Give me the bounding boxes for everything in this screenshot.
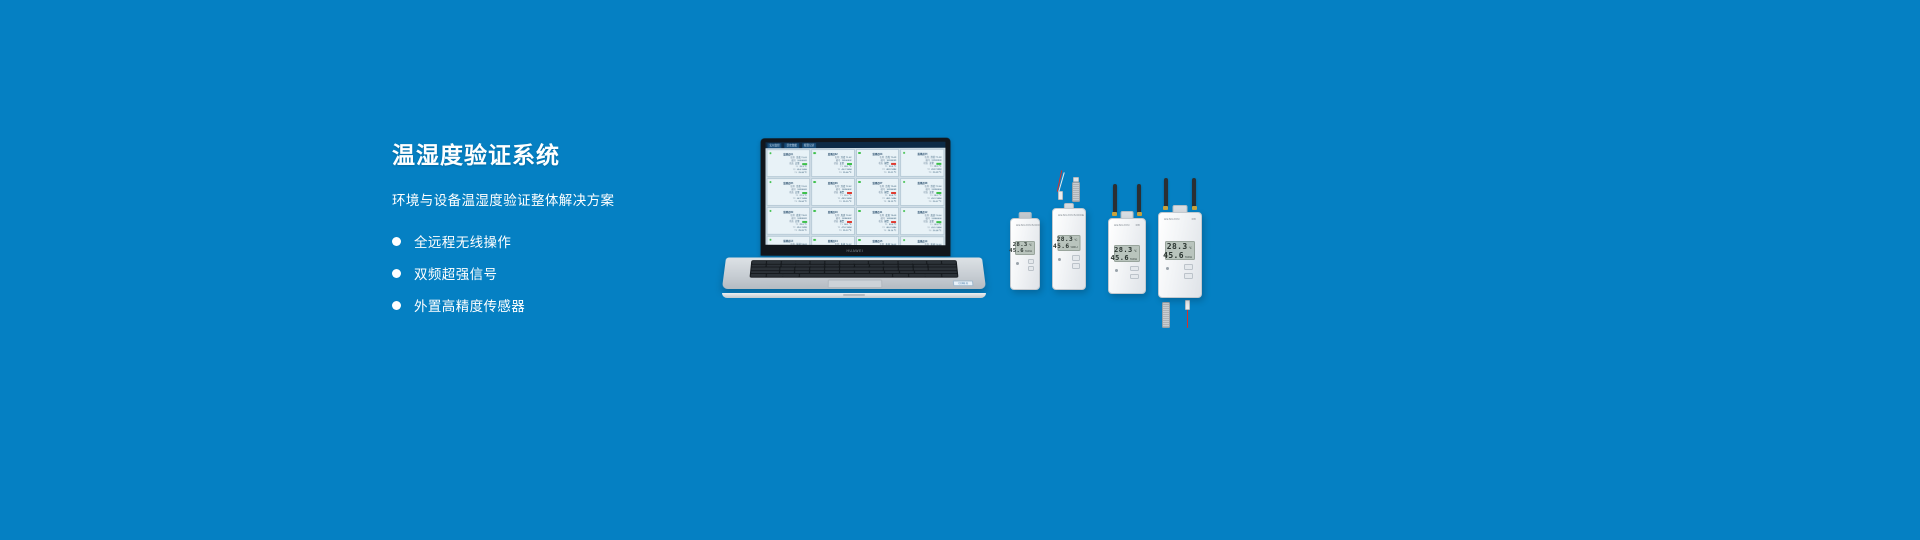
key-row [751, 271, 957, 274]
status-led-icon [858, 180, 860, 183]
list-item: 双频超强信号 [392, 263, 722, 283]
bullet-dot-icon [392, 301, 401, 310]
sensor-device-2: HENGXINS300E28.3℃45.6%RH [1052, 208, 1086, 290]
humidity-readout: 45.6%RH [1018, 248, 1032, 254]
probe-cap [1073, 177, 1079, 182]
status-led-icon [858, 239, 860, 242]
status-led-icon [813, 181, 815, 183]
device-ok-button[interactable] [1184, 273, 1194, 279]
device-brand-row: HENGXINS300E [1058, 213, 1080, 217]
monitor-card[interactable]: 监测点07名称冷库 T2-03编号10200003状态报警T130.8 ℃T24… [855, 178, 899, 206]
card-field-t3: T325.13 ℃ [858, 201, 896, 204]
card-title: 监测点07 [858, 181, 896, 185]
device-ok-button[interactable] [1028, 266, 1035, 271]
card-field-t3: T325.08 ℃ [903, 230, 941, 233]
card-title: 监测点16 [903, 239, 941, 243]
menu-item-alarms[interactable]: 报警记录 [802, 143, 816, 148]
antenna-connector [1112, 212, 1117, 216]
monitor-card[interactable]: 监测点03名称冷库 T1-03编号10100003状态报警T130.4 ℃T24… [855, 149, 899, 177]
humidity-value: 45.6 [1053, 243, 1070, 250]
probe-wire-red [1187, 310, 1188, 328]
status-badge [891, 221, 896, 223]
device-body: HENGXINR828.3℃45.6%RH [1158, 212, 1202, 298]
monitor-card[interactable]: 监测点10名称库房 T3-02编号10300002状态报警T130.1 ℃T24… [811, 207, 855, 235]
monitor-card[interactable]: 监测点02名称冷库 T1-02编号10100002状态正常T128.1 ℃T24… [811, 149, 855, 177]
card-title: 监测点04 [903, 152, 941, 156]
feature-label: 外置高精度传感器 [414, 295, 525, 315]
antenna-connector [1137, 212, 1142, 216]
sensor-probe [1072, 182, 1080, 202]
device-lcd-display: 28.3℃45.6%RH [1165, 241, 1195, 260]
antenna-icon [1137, 184, 1141, 214]
key-row [751, 268, 956, 271]
card-field-t3: T325.05 ℃ [769, 230, 806, 233]
status-led-icon [813, 238, 815, 241]
status-led-icon [858, 210, 860, 213]
device-body: HENGXINR828.3℃45.6%RH [1108, 218, 1146, 294]
card-field-t3: T325.06 ℃ [814, 172, 852, 175]
device-model: R8 [1136, 223, 1140, 227]
device-status-led [1016, 262, 1019, 265]
temperature-unit: ℃ [1029, 243, 1032, 247]
card-title: 监测点10 [814, 210, 852, 214]
status-badge [802, 192, 807, 194]
monitor-card[interactable]: 监测点04名称冷库 T1-04编号10100004状态正常T128.5 ℃T24… [900, 149, 944, 177]
status-badge [802, 163, 807, 165]
humidity-readout: 45.6%RH [1117, 254, 1137, 262]
key-row [752, 261, 956, 263]
temperature-unit: ℃ [1134, 249, 1137, 253]
card-field-t3: T325.04 ℃ [769, 201, 806, 204]
device-lcd-display: 28.3℃45.6%RH [1114, 245, 1140, 262]
monitor-card[interactable]: 监测点14名称车间 T4-02编号10400002状态正常T128.6 ℃T24… [811, 236, 855, 245]
temperature-readout: 28.3℃ [1117, 246, 1137, 254]
card-title: 监测点14 [814, 239, 852, 243]
laptop-screen: 实时监控 历史数据 报警记录 监测点01名称冷库 T1-01编号10100001… [766, 142, 946, 246]
device-set-button[interactable] [1072, 255, 1079, 261]
list-item: 外置高精度传感器 [392, 295, 722, 315]
device-brand-row: HENGXINS300 [1016, 223, 1034, 227]
temperature-unit: ℃ [1189, 246, 1192, 250]
antenna-icon [1164, 178, 1168, 208]
key-row [752, 264, 957, 267]
card-field-t3: T325.12 ℃ [814, 230, 852, 233]
status-badge [847, 163, 852, 165]
card-field-t3: T325.11 ℃ [858, 172, 896, 175]
status-badge [936, 192, 941, 194]
marketing-copy-block: 温湿度验证系统 环境与设备温湿度验证整体解决方案 全远程无线操作 双频超强信号 … [392, 142, 722, 327]
device-status-led [1166, 267, 1169, 270]
humidity-value: 45.6 [1111, 254, 1129, 262]
laptop-base: CORE i5 [720, 252, 988, 300]
device-ok-button[interactable] [1130, 274, 1138, 279]
laptop-open-notch [843, 294, 865, 296]
humidity-unit: %RH [1025, 249, 1032, 253]
device-set-button[interactable] [1184, 264, 1194, 270]
card-field-t3: T325.08 ℃ [769, 172, 806, 175]
monitor-card[interactable]: 监测点12名称库房 T3-04编号10300004状态正常T128.4 ℃T24… [900, 207, 944, 235]
page-subtitle: 环境与设备温湿度验证整体解决方案 [392, 192, 722, 210]
status-badge [936, 163, 941, 165]
temperature-readout: 28.3℃ [1061, 236, 1078, 243]
sensor-device-4: HENGXINR828.3℃45.6%RH [1158, 212, 1202, 298]
monitor-card[interactable]: 监测点08名称冷库 T2-04编号10200004状态正常T128.2 ℃T24… [900, 178, 944, 206]
monitor-card[interactable]: 监测点05名称冷库 T2-01编号10200001状态正常T127.9 ℃T24… [767, 178, 810, 206]
device-lcd-display: 28.3℃45.6%RH [1058, 235, 1081, 251]
temperature-value: 28.3 [1114, 246, 1132, 254]
antenna-icon [1113, 184, 1117, 214]
temperature-value: 28.3 [1057, 236, 1074, 243]
humidity-value: 45.6 [1009, 248, 1024, 254]
key-row [751, 274, 958, 277]
humidity-unit: %RH [1185, 255, 1192, 259]
card-field-t3: T325.09 ℃ [903, 172, 941, 175]
card-field-t3: T325.15 ℃ [814, 201, 852, 204]
status-badge [847, 221, 852, 223]
monitoring-card-grid: 监测点01名称冷库 T1-01编号10100001状态正常T128.3 ℃T24… [766, 148, 946, 246]
humidity-value: 45.6 [1163, 251, 1184, 260]
status-led-icon [769, 181, 771, 183]
monitor-card[interactable]: 监测点06名称冷库 T2-02编号10200002状态报警T131.2 ℃T24… [811, 178, 855, 206]
humidity-unit: %RH [1130, 257, 1137, 261]
laptop-deck: CORE i5 [722, 257, 986, 289]
card-title: 监测点06 [814, 181, 852, 185]
list-item: 全远程无线操作 [392, 231, 722, 251]
humidity-readout: 45.6%RH [1168, 251, 1192, 260]
device-ok-button[interactable] [1072, 263, 1079, 269]
device-status-led [1115, 269, 1118, 272]
device-body: HENGXINS300E28.3℃45.6%RH [1052, 208, 1086, 290]
card-title: 监测点09 [769, 210, 806, 214]
device-body: HENGXINS30028.3℃45.6%RH [1010, 218, 1040, 290]
device-model: S300 [1032, 223, 1040, 227]
status-led-icon [769, 209, 771, 211]
device-brand-row: HENGXINR8 [1114, 223, 1140, 227]
menu-item-history[interactable]: 历史数据 [785, 143, 799, 148]
page-title: 温湿度验证系统 [392, 142, 722, 170]
bullet-dot-icon [392, 237, 401, 246]
temperature-value: 28.3 [1167, 242, 1188, 251]
menu-item-realtime[interactable]: 实时监控 [768, 143, 782, 148]
laptop-spec-sticker: CORE i5 [953, 280, 974, 286]
card-title: 监测点08 [903, 181, 941, 185]
device-brand: HENGXIN [1058, 213, 1074, 217]
status-badge [891, 192, 896, 194]
sticker-label: CORE i5 [958, 282, 968, 285]
monitor-card[interactable]: 监测点15名称车间 T4-03编号10400003状态报警T130.9 ℃T24… [855, 236, 899, 245]
card-title: 监测点05 [769, 181, 806, 185]
humidity-readout: 45.6%RH [1061, 243, 1078, 250]
monitor-card[interactable]: 监测点09名称库房 T3-01编号10300001状态正常T128.0 ℃T24… [767, 207, 810, 235]
status-led-icon [769, 238, 771, 240]
laptop-lid: 实时监控 历史数据 报警记录 监测点01名称冷库 T1-01编号10100001… [761, 138, 951, 257]
device-lcd-display: 28.3℃45.6%RH [1015, 241, 1035, 255]
status-badge [936, 221, 941, 223]
card-field-t3: T325.14 ℃ [858, 230, 896, 233]
humidity-unit: %RH [1070, 245, 1077, 249]
device-brand: HENGXIN [1114, 223, 1130, 227]
sensor-device-3: HENGXINR828.3℃45.6%RH [1108, 218, 1146, 294]
status-led-icon [813, 152, 815, 155]
status-led-icon [858, 151, 860, 154]
temperature-readout: 28.3℃ [1168, 242, 1192, 251]
card-title: 监测点02 [814, 152, 852, 156]
probe-connector [1058, 191, 1063, 200]
card-title: 监测点01 [769, 152, 806, 156]
card-title: 监测点13 [769, 239, 806, 243]
card-title: 监测点15 [858, 239, 896, 243]
probe-connector [1185, 300, 1190, 310]
status-led-icon [769, 152, 771, 154]
card-title: 监测点12 [903, 210, 941, 214]
feature-list: 全远程无线操作 双频超强信号 外置高精度传感器 [392, 231, 722, 315]
card-field-t3: T325.07 ℃ [903, 201, 941, 204]
device-brand: HENGXIN [1016, 223, 1032, 227]
status-badge [802, 221, 807, 223]
status-led-icon [813, 209, 815, 211]
antenna-connector [1192, 206, 1197, 210]
device-brand-row: HENGXINR8 [1164, 217, 1196, 221]
promo-banner: 温湿度验证系统 环境与设备温湿度验证整体解决方案 全远程无线操作 双频超强信号 … [0, 0, 1920, 540]
device-model: R8 [1192, 217, 1196, 221]
device-set-button[interactable] [1130, 266, 1138, 271]
monitor-card[interactable]: 监测点11名称库房 T3-03编号10300003状态报警T130.6 ℃T24… [855, 207, 899, 235]
feature-label: 全远程无线操作 [414, 231, 511, 251]
device-set-button[interactable] [1028, 259, 1035, 264]
bullet-dot-icon [392, 269, 401, 278]
status-badge [891, 163, 896, 165]
laptop-product-image: 实时监控 历史数据 报警记录 监测点01名称冷库 T1-01编号10100001… [720, 138, 988, 300]
laptop-trackpad[interactable] [828, 280, 883, 289]
device-model: S300E [1074, 213, 1085, 217]
feature-label: 双频超强信号 [414, 263, 497, 283]
card-title: 监测点11 [858, 210, 896, 214]
antenna-connector [1163, 206, 1168, 210]
card-title: 监测点03 [858, 152, 896, 156]
monitor-card[interactable]: 监测点01名称冷库 T1-01编号10100001状态正常T128.3 ℃T24… [767, 149, 810, 177]
sensor-device-1: HENGXINS30028.3℃45.6%RH [1010, 218, 1040, 290]
monitor-card[interactable]: 监测点16名称车间 T4-04编号10400004状态正常T128.1 ℃T24… [900, 236, 944, 245]
sensor-probe [1162, 302, 1170, 328]
device-status-led [1058, 258, 1061, 261]
antenna-icon [1192, 178, 1196, 208]
device-brand: HENGXIN [1164, 217, 1180, 221]
temperature-unit: ℃ [1074, 238, 1077, 242]
laptop-keyboard[interactable] [750, 260, 959, 277]
status-badge [847, 192, 852, 194]
